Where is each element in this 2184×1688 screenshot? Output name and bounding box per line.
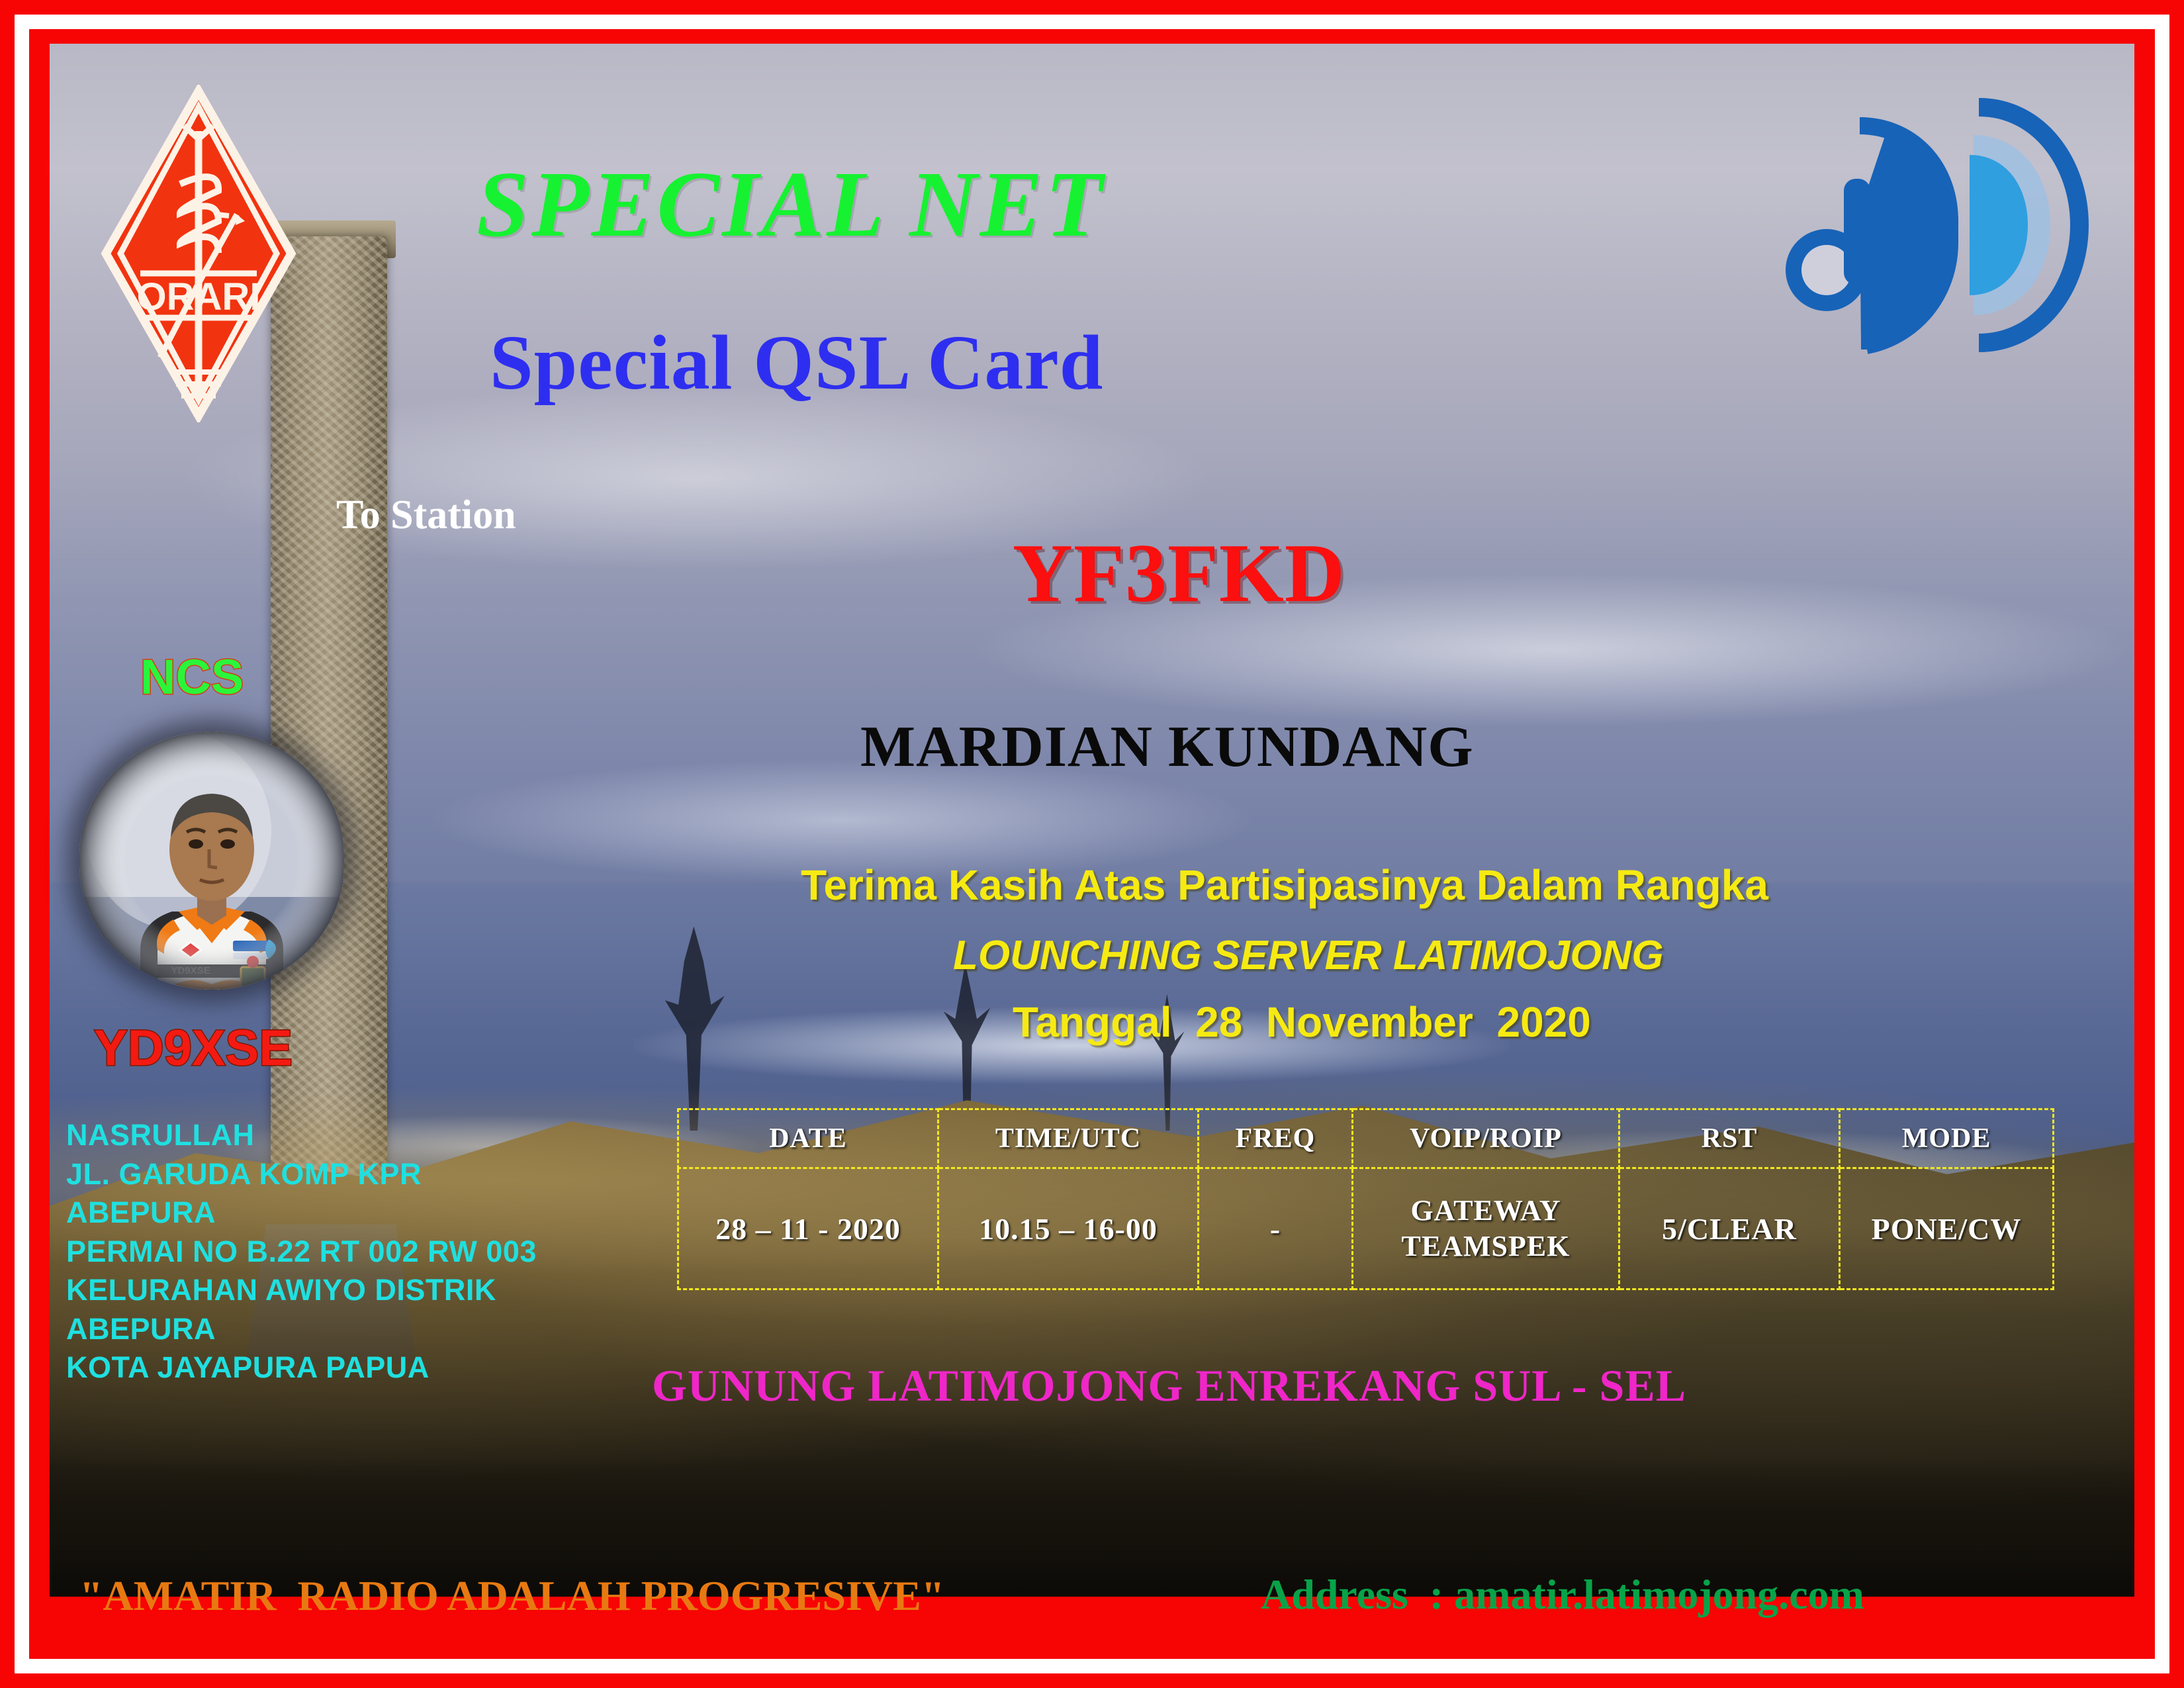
event-name: LOUNCHING SERVER LATIMOJONG [953,932,1664,979]
thanks-line-1: Terima Kasih Atas Partisipasinya Dalam R… [801,861,1768,910]
address-block: NASRULLAH JL. GARUDA KOMP KPR ABEPURA PE… [66,1116,537,1387]
page-title: SPECIAL NET [477,150,1105,258]
address-line: ABEPURA [66,1194,537,1233]
to-station-label: To Station [336,492,516,539]
cell-mode: PONE/CW [1840,1168,2054,1289]
event-date: Tanggal 28 November 2020 [1013,998,1591,1047]
cell-date: 28 – 11 - 2020 [678,1168,938,1289]
page-subtitle: Special QSL Card [490,318,1103,408]
col-header-voip: VOIP/ROIP [1353,1109,1619,1168]
orari-logo: ORARI [99,85,298,422]
qso-log-table: DATE TIME/UTC FREQ VOIP/ROIP RST MODE 28… [677,1108,2054,1290]
address-line: NASRULLAH [66,1116,537,1155]
footer-address: Address : amatir.latimojong.com [1261,1570,1864,1619]
operator-name: MARDIAN KUNDANG [860,714,1474,780]
cell-time: 10.15 – 16-00 [938,1168,1199,1289]
ncs-label: NCS [140,649,244,705]
address-line: KELURAHAN AWIYO DISTRIK [66,1271,537,1310]
col-header-date: DATE [678,1109,938,1168]
station-callsign: YF3FKD [1013,526,1345,622]
voip-headset-logo [1780,86,2091,364]
footer-motto: "AMATIR RADIO ADALAH PROGRESIVE" [79,1571,944,1620]
ncs-avatar: YD9XSE [79,731,344,990]
cell-freq: - [1199,1168,1353,1289]
address-line: KOTA JAYAPURA PAPUA [66,1348,537,1387]
orari-logo-text: ORARI [137,275,261,318]
table-header-row: DATE TIME/UTC FREQ VOIP/ROIP RST MODE [678,1109,2054,1168]
location-line: GUNUNG LATIMOJONG ENREKANG SUL - SEL [652,1360,1686,1412]
ncs-callsign: YD9XSE [94,1019,293,1077]
address-line: ABEPURA [66,1310,537,1349]
qsl-card-frame: ORARI SPECIAL NET Special QSL Card To St… [0,0,2184,1688]
address-line: JL. GARUDA KOMP KPR [66,1155,537,1194]
col-header-freq: FREQ [1199,1109,1353,1168]
col-header-rst: RST [1619,1109,1840,1168]
col-header-time: TIME/UTC [938,1109,1199,1168]
address-line: PERMAI NO B.22 RT 002 RW 003 [66,1233,537,1272]
cell-rst: 5/CLEAR [1619,1168,1840,1289]
col-header-mode: MODE [1840,1109,2054,1168]
table-row: 28 – 11 - 2020 10.15 – 16-00 - GATEWAY T… [678,1168,2054,1289]
cell-voip: GATEWAY TEAMSPEK [1353,1168,1619,1289]
